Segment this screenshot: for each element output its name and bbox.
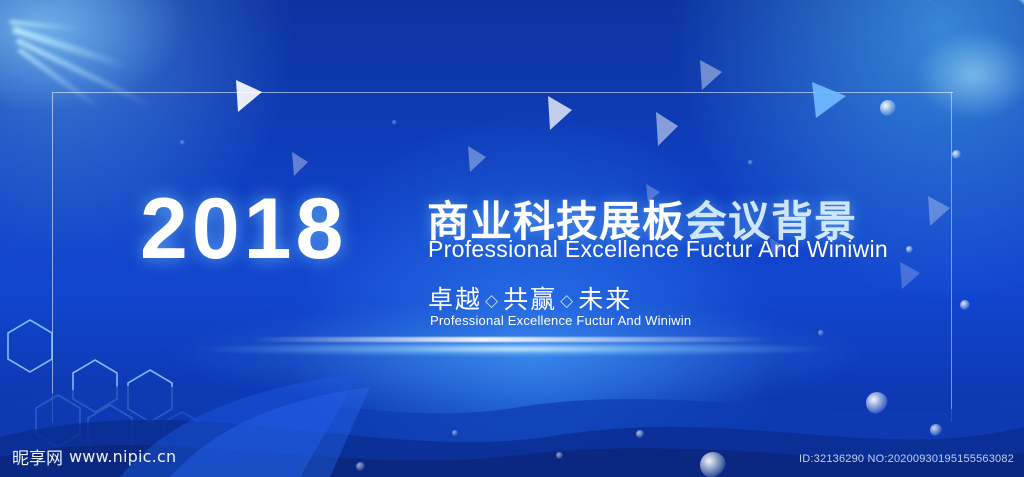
chinese-subtitle-part-1: 卓越 <box>428 285 482 314</box>
poster-canvas: 2018 商业科技展板会议背景 Professional Excellence … <box>0 0 1024 477</box>
bokeh-dot <box>180 140 185 145</box>
bokeh-dot <box>392 120 397 125</box>
watermark-brand: 昵享网 <box>12 444 63 469</box>
bokeh-dot <box>356 462 365 471</box>
bokeh-dot <box>636 430 644 438</box>
bokeh-dot <box>748 160 753 165</box>
bokeh-dot <box>906 246 913 253</box>
image-id-line: ID:32136290 NO:20200930195155563082 <box>799 453 1014 465</box>
bokeh-dot <box>866 392 888 414</box>
bokeh-dot <box>452 430 458 436</box>
bokeh-dot <box>952 150 961 159</box>
english-subtitle: Professional Excellence Fuctur And Winiw… <box>430 313 691 328</box>
bokeh-dot <box>880 100 896 116</box>
watermark: 昵享网 www.nipic.cn <box>12 444 176 469</box>
diamond-icon: ◇ <box>482 291 503 311</box>
chinese-subtitle-part-2: 共赢 <box>503 285 557 314</box>
bokeh-dot <box>930 424 942 436</box>
bokeh-dot <box>960 300 970 310</box>
year-headline: 2018 <box>140 186 347 272</box>
bokeh-dot <box>556 452 563 459</box>
bokeh-dot <box>818 330 824 336</box>
chinese-subtitle: 卓越◇共赢◇未来 <box>428 280 632 316</box>
watermark-site: www.nipic.cn <box>69 447 176 466</box>
bokeh-dot <box>700 452 726 477</box>
english-title: Professional Excellence Fuctur And Winiw… <box>428 236 888 263</box>
chinese-subtitle-part-3: 未来 <box>578 285 632 314</box>
diamond-icon: ◇ <box>557 291 578 311</box>
